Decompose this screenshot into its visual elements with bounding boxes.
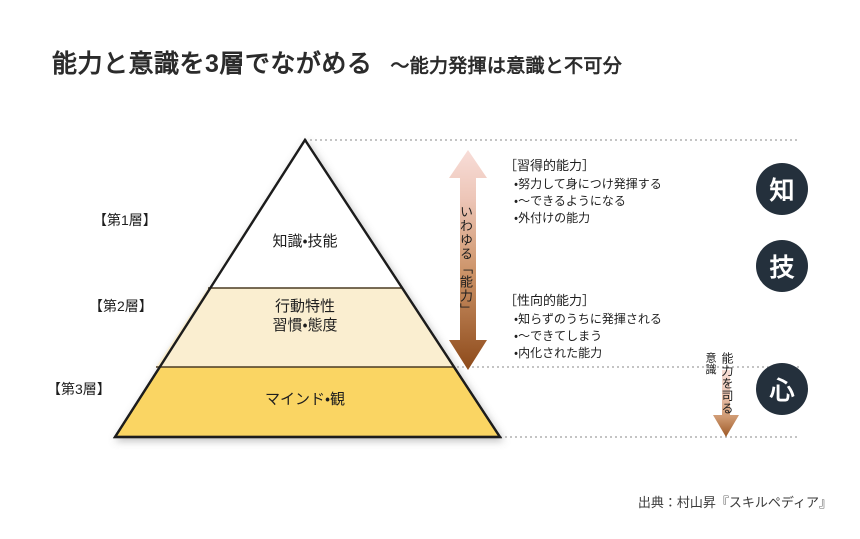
pyramid-layer-3-label: マインド・観 <box>235 390 375 409</box>
description-acquired-ability: ［習得的能力］ ・努力して身につけ発揮する ・～できるようになる ・外付けの能力 <box>504 155 662 227</box>
slide-canvas: 能力と意識を3層でながめる ～能力発揮は意識と不可分 <box>0 0 860 539</box>
pyramid-layer-1 <box>208 140 402 288</box>
consciousness-side-label: 意識 <box>702 352 718 375</box>
pyramid-layer-2-label-line2: 習慣・態度 <box>245 316 365 335</box>
consciousness-arrow-label: 能力を司る <box>719 352 736 415</box>
description-dispositional-ability: ［性向的能力］ ・知らずのうちに発揮される ・～できてしまう ・内化された能力 <box>504 290 662 362</box>
description-acquired-item-2: ・～できるようになる <box>504 193 662 210</box>
description-dispositional-item-2: ・～できてしまう <box>504 328 662 345</box>
description-dispositional-item-1: ・知らずのうちに発揮される <box>504 311 662 328</box>
ability-arrow-label: いわゆる「能力」 <box>456 205 475 317</box>
description-acquired-heading: ［習得的能力］ <box>504 155 662 174</box>
pyramid-layer-2-label-line1: 行動特性 <box>245 297 365 316</box>
source-credit: 出典：村山昇『スキルペディア』 <box>638 492 832 511</box>
description-dispositional-item-3: ・内化された能力 <box>504 345 662 362</box>
pyramid-diagram <box>0 0 860 539</box>
badge-gi-label: 技 <box>769 248 794 284</box>
tier-label-3: 【第3層】 <box>47 379 111 399</box>
badge-shin-label: 心 <box>769 371 794 407</box>
tier-label-2: 【第2層】 <box>89 296 153 316</box>
badge-shin: 心 <box>756 363 808 415</box>
description-acquired-item-3: ・外付けの能力 <box>504 210 662 227</box>
description-dispositional-heading: ［性向的能力］ <box>504 290 662 309</box>
pyramid-layer-1-label: 知識・技能 <box>245 232 365 251</box>
tier-label-1: 【第1層】 <box>93 210 157 230</box>
description-acquired-item-1: ・努力して身につけ発揮する <box>504 176 662 193</box>
badge-gi: 技 <box>756 240 808 292</box>
pyramid-layer-2-label: 行動特性 習慣・態度 <box>245 297 365 335</box>
badge-chi-label: 知 <box>769 171 794 207</box>
badge-chi: 知 <box>756 163 808 215</box>
